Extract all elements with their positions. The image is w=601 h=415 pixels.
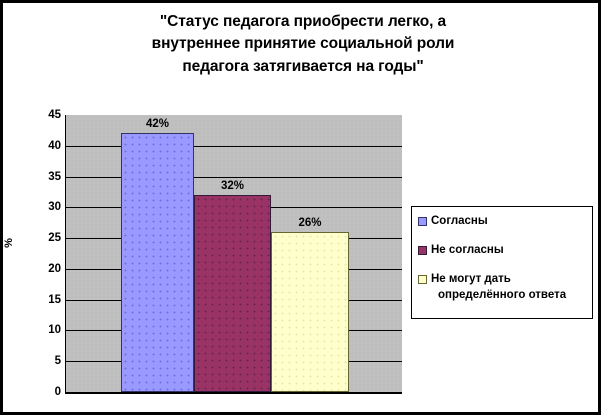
chart-title-line-3: педагога затягивается на годы": [43, 56, 563, 78]
bar-value-label-2: 26%: [271, 217, 349, 229]
bar-series-1[interactable]: [194, 195, 271, 392]
gridline: [66, 146, 402, 147]
y-tick-label: 5: [35, 355, 61, 367]
bar-series-0[interactable]: [121, 133, 194, 392]
bar-value-label-1: 32%: [194, 180, 271, 192]
y-tick-label: 45: [35, 109, 61, 121]
y-tick-label: 20: [35, 263, 61, 275]
y-axis-label: %: [3, 238, 15, 248]
legend-item-2[interactable]: Не могут датьопределённого ответа: [418, 272, 587, 302]
y-tick-label: 10: [35, 324, 61, 336]
chart-title: "Статус педагога приобрести легко, а вну…: [43, 11, 563, 78]
y-tick-label: 40: [35, 140, 61, 152]
legend-swatch-icon-2: [418, 275, 427, 284]
chart-title-line-2: внутреннее принятие социальной роли: [43, 33, 563, 55]
legend-label-2: Не могут датьопределённого ответа: [431, 272, 566, 302]
y-tick-label: 35: [35, 171, 61, 183]
legend-swatch-icon-1: [418, 246, 427, 255]
y-axis-ticks: 45 40 35 30 25 20 15 10 5 0: [29, 115, 61, 392]
y-tick-label: 25: [35, 232, 61, 244]
legend-label-2-line-2: определённого ответа: [431, 288, 566, 303]
y-tick-label: 0: [35, 386, 61, 398]
legend-item-0[interactable]: Согласны: [418, 214, 587, 229]
chart-title-line-1: "Статус педагога приобрести легко, а: [43, 11, 563, 33]
y-tick-label: 30: [35, 201, 61, 213]
bar-value-label-0: 42%: [121, 118, 194, 130]
legend-item-1[interactable]: Не согласны: [418, 243, 587, 258]
legend-label-1: Не согласны: [431, 243, 504, 258]
legend-label-2-line-1: Не могут дать: [431, 273, 511, 285]
chart-frame: "Статус педагога приобрести легко, а вну…: [0, 0, 601, 415]
legend-swatch-icon-0: [418, 217, 427, 226]
y-tick-label: 15: [35, 294, 61, 306]
gridline: [66, 177, 402, 178]
chart-legend: Согласны Не согласны Не могут датьопреде…: [411, 206, 593, 319]
bar-series-2[interactable]: [271, 232, 349, 392]
legend-label-0: Согласны: [431, 214, 488, 229]
plot-area: 42% 32% 26%: [65, 115, 402, 394]
